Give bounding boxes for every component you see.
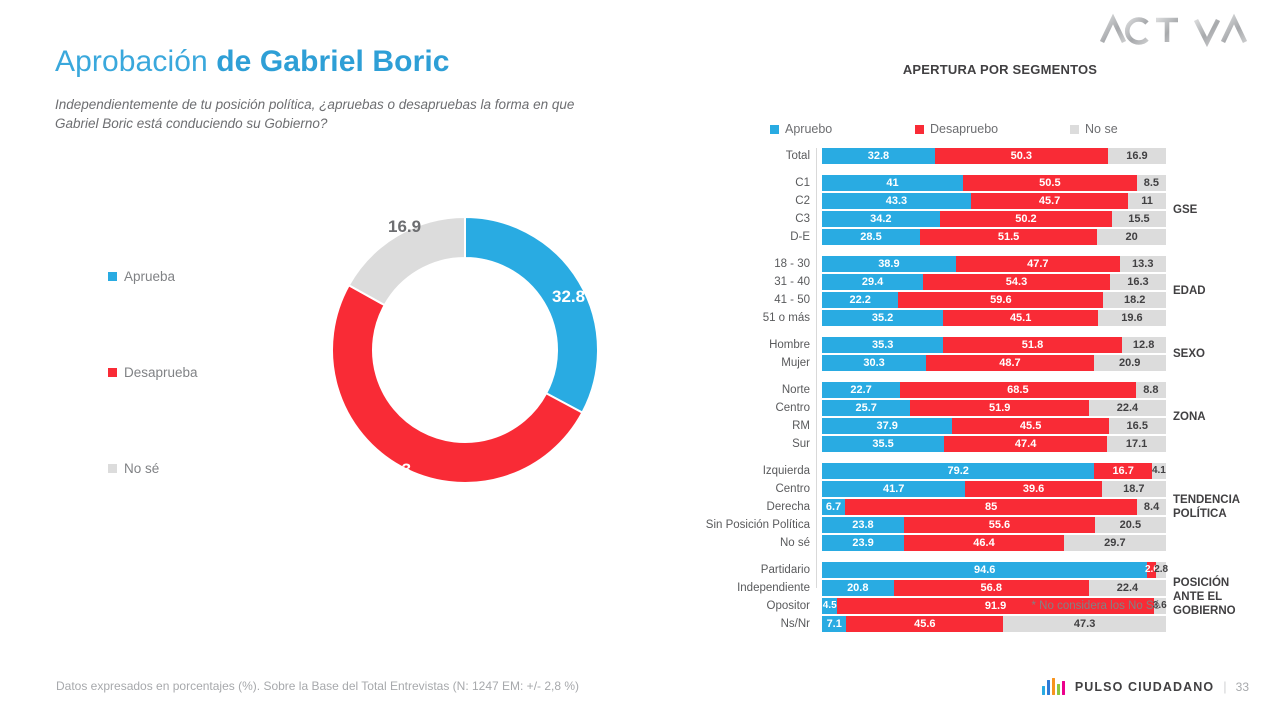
chart-row: 18 - 3038.947.713.3 xyxy=(703,256,1263,272)
bar-segment-desapruebo: 50.5 xyxy=(963,175,1137,191)
chart-row-bar: 35.245.119.6 xyxy=(822,310,1166,326)
chart-group-zona: Norte22.768.58.8Centro25.751.922.4RM37.9… xyxy=(703,382,1263,452)
segments-chart: Total32.850.316.9C14150.58.5C243.345.711… xyxy=(703,148,1263,598)
donut-slice-no-sé xyxy=(349,217,465,305)
bar-segment-desapruebo: 47.7 xyxy=(956,256,1120,272)
bar-segment-apruebo: 43.3 xyxy=(822,193,971,209)
chart-group-total: Total32.850.316.9 xyxy=(703,148,1263,164)
chart-row-label: 31 - 40 xyxy=(703,274,816,290)
donut-legend-label: Desaprueba xyxy=(124,365,198,380)
legend-swatch-no-se xyxy=(1070,125,1079,134)
chart-row: Ns/Nr7.145.647.3 xyxy=(703,616,1263,632)
bar-segment-no se: 15.5 xyxy=(1112,211,1165,227)
chart-row-bar: 23.946.429.7 xyxy=(822,535,1166,551)
donut-legend-item-desaprueba: Desaprueba xyxy=(108,361,268,383)
bar-segment-apruebo: 35.3 xyxy=(822,337,943,353)
bar-segment-apruebo: 23.9 xyxy=(822,535,904,551)
bar-segment-apruebo: 20.8 xyxy=(822,580,894,596)
bar-segment-apruebo: 38.9 xyxy=(822,256,956,272)
chart-row-label: Independiente xyxy=(703,580,816,596)
donut-legend-item-nose: No sé xyxy=(108,457,268,479)
bar-segment-no se: 12.8 xyxy=(1122,337,1166,353)
chart-group-label: GSE xyxy=(1173,203,1197,217)
chart-row-bar: 35.351.812.8 xyxy=(822,337,1166,353)
bar-segment-no se: 18.2 xyxy=(1103,292,1166,308)
chart-row-bar: 38.947.713.3 xyxy=(822,256,1166,272)
legend-swatch-nose xyxy=(108,464,117,473)
bar-segment-apruebo: 32.8 xyxy=(822,148,935,164)
donut-slice-desaprueba xyxy=(332,285,582,483)
bar-segment-apruebo: 28.5 xyxy=(822,229,920,245)
bar-segment-desapruebo: 39.6 xyxy=(965,481,1101,497)
bar-segment-desapruebo: 56.8 xyxy=(894,580,1089,596)
bar-segment-no se: 8.4 xyxy=(1137,499,1166,515)
bar-segment-no se: 16.5 xyxy=(1109,418,1166,434)
page-title: Aprobación de Gabriel Boric xyxy=(55,44,450,80)
chart-group-label: POSICIÓNANTE ELGOBIERNO xyxy=(1173,576,1236,618)
chart-group-posici-n-ante-el-gobierno: Partidario94.62.62.8Independiente20.856.… xyxy=(703,562,1263,632)
bar-segment-no se: 47.3 xyxy=(1003,616,1166,632)
legend-swatch-desapruebo xyxy=(915,125,924,134)
chart-row-bar: 43.345.711 xyxy=(822,193,1166,209)
chart-row-bar: 28.551.520 xyxy=(822,229,1166,245)
chart-groups: Total32.850.316.9C14150.58.5C243.345.711… xyxy=(703,148,1263,632)
donut-legend: Aprueba Desaprueba No sé xyxy=(108,265,268,479)
bar-segment-apruebo: 37.9 xyxy=(822,418,952,434)
pulso-separator: | xyxy=(1223,679,1226,694)
chart-row-bar: 6.7858.4 xyxy=(822,499,1166,515)
bar-segment-apruebo: 79.2 xyxy=(822,463,1094,479)
bar-segment-apruebo: 34.2 xyxy=(822,211,940,227)
chart-row-bar: 7.145.647.3 xyxy=(822,616,1166,632)
page-subtitle: Independientemente de tu posición políti… xyxy=(55,95,575,133)
chart-row-label: Ns/Nr xyxy=(703,616,816,632)
slide-footnote: Datos expresados en porcentajes (%). Sob… xyxy=(56,679,579,693)
chart-group-edad: 18 - 3038.947.713.331 - 4029.454.316.341… xyxy=(703,256,1263,326)
bar-segment-no se: 16.9 xyxy=(1108,148,1166,164)
page-number: 33 xyxy=(1236,680,1249,694)
bar-segment-desapruebo: 47.4 xyxy=(944,436,1107,452)
chart-group-sexo: Hombre35.351.812.8Mujer30.348.720.9SEXO xyxy=(703,337,1263,371)
bar-segment-desapruebo: 45.5 xyxy=(952,418,1109,434)
chart-row-label: Mujer xyxy=(703,355,816,371)
chart-row-label: C3 xyxy=(703,211,816,227)
chart-row-bar: 94.62.62.8 xyxy=(822,562,1166,578)
bar-segment-no se: 16.3 xyxy=(1110,274,1166,290)
chart-group-label: TENDENCIAPOLÍTICA xyxy=(1173,493,1240,521)
bar-segment-apruebo: 23.8 xyxy=(822,517,904,533)
bar-segment-desapruebo: 45.7 xyxy=(971,193,1128,209)
chart-row-bar: 30.348.720.9 xyxy=(822,355,1166,371)
bar-segment-desapruebo: 45.1 xyxy=(943,310,1098,326)
chart-row-bar: 41.739.618.7 xyxy=(822,481,1166,497)
segments-footnote: * No considera los No Sé xyxy=(703,600,1160,612)
bar-segment-desapruebo: 54.3 xyxy=(923,274,1110,290)
bar-segment-desapruebo: 59.6 xyxy=(898,292,1103,308)
chart-row-bar: 25.751.922.4 xyxy=(822,400,1166,416)
bar-segment-desapruebo: 45.6 xyxy=(846,616,1003,632)
slide-root: Aprobación de Gabriel Boric Independient… xyxy=(0,0,1271,707)
bar-segment-apruebo: 94.6 xyxy=(822,562,1147,578)
chart-row: C14150.58.5 xyxy=(703,175,1263,191)
bar-segment-no se: 2.8 xyxy=(1156,562,1166,578)
chart-row-bar: 4150.58.5 xyxy=(822,175,1166,191)
chart-row-bar: 29.454.316.3 xyxy=(822,274,1166,290)
segments-legend-item-apruebo: Apruebo xyxy=(770,122,915,136)
chart-row-label: Izquierda xyxy=(703,463,816,479)
chart-row-label: Norte xyxy=(703,382,816,398)
bar-segment-no se: 18.7 xyxy=(1102,481,1166,497)
segments-legend-item-desapruebo: Desapruebo xyxy=(915,122,1070,136)
segments-legend-label: Apruebo xyxy=(785,122,832,136)
chart-row-label: Hombre xyxy=(703,337,816,353)
bar-segment-desapruebo: 46.4 xyxy=(904,535,1064,551)
segments-legend-label: Desapruebo xyxy=(930,122,998,136)
chart-group-label: SEXO xyxy=(1173,347,1205,361)
donut-legend-label: Aprueba xyxy=(124,269,175,284)
chart-row: No sé23.946.429.7 xyxy=(703,535,1263,551)
bar-segment-apruebo: 22.2 xyxy=(822,292,898,308)
bar-segment-apruebo: 29.4 xyxy=(822,274,923,290)
bar-segment-no se: 8.5 xyxy=(1137,175,1166,191)
segments-legend-label: No se xyxy=(1085,122,1118,136)
chart-row-label: D-E xyxy=(703,229,816,245)
chart-row-label: Derecha xyxy=(703,499,816,515)
bar-segment-no se: 20.5 xyxy=(1095,517,1166,533)
bar-segment-desapruebo: 55.6 xyxy=(904,517,1095,533)
bar-segment-apruebo: 7.1 xyxy=(822,616,846,632)
legend-swatch-aprueba xyxy=(108,272,117,281)
chart-row-label: Total xyxy=(703,148,816,164)
donut-chart: 32.8 50.3 16.9 xyxy=(320,205,610,495)
bar-segment-no se: 22.4 xyxy=(1089,580,1166,596)
chart-row-label: Sin Posición Política xyxy=(703,517,816,533)
chart-row-bar: 79.216.74.1 xyxy=(822,463,1166,479)
segments-legend: Apruebo Desapruebo No se xyxy=(770,122,1170,136)
chart-row-label: C1 xyxy=(703,175,816,191)
segments-legend-item-nose: No se xyxy=(1070,122,1118,136)
bar-segment-apruebo: 6.7 xyxy=(822,499,845,515)
bar-segment-no se: 20.9 xyxy=(1094,355,1166,371)
chart-row-label: 51 o más xyxy=(703,310,816,326)
bar-segment-desapruebo: 50.2 xyxy=(940,211,1113,227)
donut-legend-item-aprueba: Aprueba xyxy=(108,265,268,287)
bar-segment-apruebo: 35.5 xyxy=(822,436,944,452)
bar-segment-no se: 20 xyxy=(1097,229,1166,245)
chart-row-label: 41 - 50 xyxy=(703,292,816,308)
donut-legend-label: No sé xyxy=(124,461,159,476)
chart-row-bar: 22.259.618.2 xyxy=(822,292,1166,308)
chart-row: Sur35.547.417.1 xyxy=(703,436,1263,452)
chart-row: Total32.850.316.9 xyxy=(703,148,1263,164)
page-title-bold: de Gabriel Boric xyxy=(216,45,449,78)
bar-segment-no se: 17.1 xyxy=(1107,436,1166,452)
chart-group-label: ZONA xyxy=(1173,410,1206,424)
bar-segment-apruebo: 30.3 xyxy=(822,355,926,371)
bar-segment-apruebo: 22.7 xyxy=(822,382,900,398)
bar-segment-apruebo: 25.7 xyxy=(822,400,910,416)
segments-title: APERTURA POR SEGMENTOS xyxy=(760,62,1240,77)
bar-segment-desapruebo: 16.7 xyxy=(1094,463,1151,479)
bar-segment-no se: 29.7 xyxy=(1064,535,1166,551)
bar-segment-desapruebo: 50.3 xyxy=(935,148,1108,164)
chart-row-label: Centro xyxy=(703,400,816,416)
chart-row-bar: 23.855.620.5 xyxy=(822,517,1166,533)
bar-segment-no se: 22.4 xyxy=(1089,400,1166,416)
chart-row-label: Sur xyxy=(703,436,816,452)
chart-group-gse: C14150.58.5C243.345.711C334.250.215.5D-E… xyxy=(703,175,1263,245)
chart-row: D-E28.551.520 xyxy=(703,229,1263,245)
chart-row-bar: 32.850.316.9 xyxy=(822,148,1166,164)
chart-row: Izquierda79.216.74.1 xyxy=(703,463,1263,479)
bar-segment-no se: 13.3 xyxy=(1120,256,1166,272)
chart-row: Norte22.768.58.8 xyxy=(703,382,1263,398)
bar-segment-apruebo: 41 xyxy=(822,175,963,191)
chart-row-label: Partidario xyxy=(703,562,816,578)
legend-swatch-desaprueba xyxy=(108,368,117,377)
bar-segment-desapruebo: 68.5 xyxy=(900,382,1136,398)
chart-row-bar: 34.250.215.5 xyxy=(822,211,1166,227)
bar-segment-desapruebo: 85 xyxy=(845,499,1137,515)
chart-group-label: EDAD xyxy=(1173,284,1206,298)
pulso-bars-icon xyxy=(1042,678,1067,695)
chart-row: 51 o más35.245.119.6 xyxy=(703,310,1263,326)
chart-row-bar: 20.856.822.4 xyxy=(822,580,1166,596)
activa-logo xyxy=(1099,12,1249,48)
donut-slice-aprueba xyxy=(465,217,598,413)
chart-row-label: 18 - 30 xyxy=(703,256,816,272)
chart-row-label: Centro xyxy=(703,481,816,497)
chart-row-label: No sé xyxy=(703,535,816,551)
legend-swatch-apruebo xyxy=(770,125,779,134)
chart-row-label: C2 xyxy=(703,193,816,209)
bar-segment-desapruebo: 51.5 xyxy=(920,229,1097,245)
pulso-logo-text: PULSO CIUDADANO xyxy=(1075,680,1214,694)
bar-segment-apruebo: 35.2 xyxy=(822,310,943,326)
chart-row-bar: 22.768.58.8 xyxy=(822,382,1166,398)
chart-row-bar: 35.547.417.1 xyxy=(822,436,1166,452)
bar-segment-desapruebo: 48.7 xyxy=(926,355,1094,371)
bar-segment-no se: 19.6 xyxy=(1098,310,1165,326)
bar-segment-desapruebo: 51.8 xyxy=(943,337,1121,353)
bar-segment-no se: 11 xyxy=(1128,193,1166,209)
chart-row-label: RM xyxy=(703,418,816,434)
bar-segment-no se: 8.8 xyxy=(1136,382,1166,398)
bar-segment-no se: 4.1 xyxy=(1152,463,1166,479)
chart-row-bar: 37.945.516.5 xyxy=(822,418,1166,434)
bar-segment-apruebo: 41.7 xyxy=(822,481,965,497)
pulso-ciudadano-logo: PULSO CIUDADANO | 33 xyxy=(1042,678,1249,695)
chart-group-tendencia-pol-tica: Izquierda79.216.74.1Centro41.739.618.7De… xyxy=(703,463,1263,551)
page-title-light: Aprobación xyxy=(55,45,216,78)
bar-segment-desapruebo: 51.9 xyxy=(910,400,1089,416)
